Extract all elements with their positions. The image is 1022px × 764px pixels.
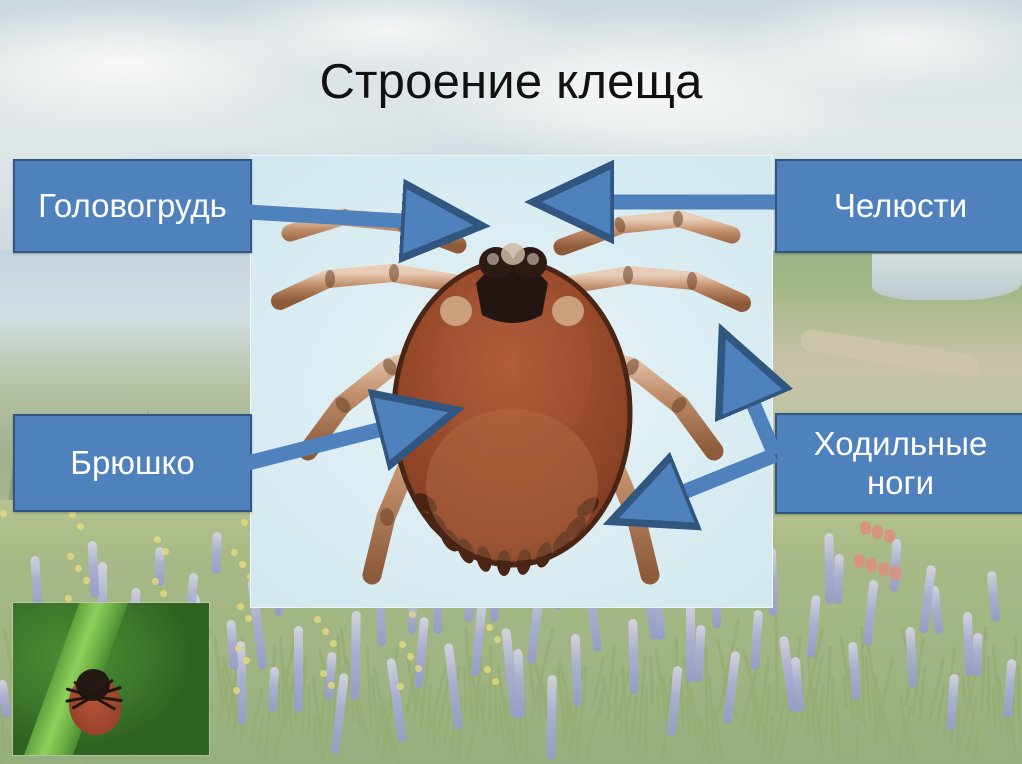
chelicerae: [501, 243, 525, 265]
tick-on-grass-inset-photo: [13, 603, 209, 755]
callout-jaws[interactable]: Челюсти: [775, 159, 1022, 253]
callout-label-jaws: Челюсти: [834, 187, 967, 226]
tick-diagram-photo: [250, 155, 773, 608]
coxa-left: [440, 296, 472, 326]
callout-label-cephalothorax: Головогрудь: [38, 187, 227, 226]
callout-label-abdomen: Брюшко: [70, 444, 194, 483]
callout-label-legs-line1: Ходильные: [814, 425, 988, 462]
page-title: Строение клеща: [0, 58, 1022, 107]
callout-legs[interactable]: Ходильные ноги: [775, 413, 1022, 514]
callout-cephalothorax[interactable]: Головогрудь: [13, 159, 252, 253]
tick-illustration: [250, 155, 773, 608]
slide-canvas: Строение клеща: [0, 0, 1022, 764]
callout-abdomen[interactable]: Брюшко: [13, 414, 252, 512]
coxa-right: [552, 296, 584, 326]
callout-label-legs-line2: ноги: [867, 464, 934, 501]
